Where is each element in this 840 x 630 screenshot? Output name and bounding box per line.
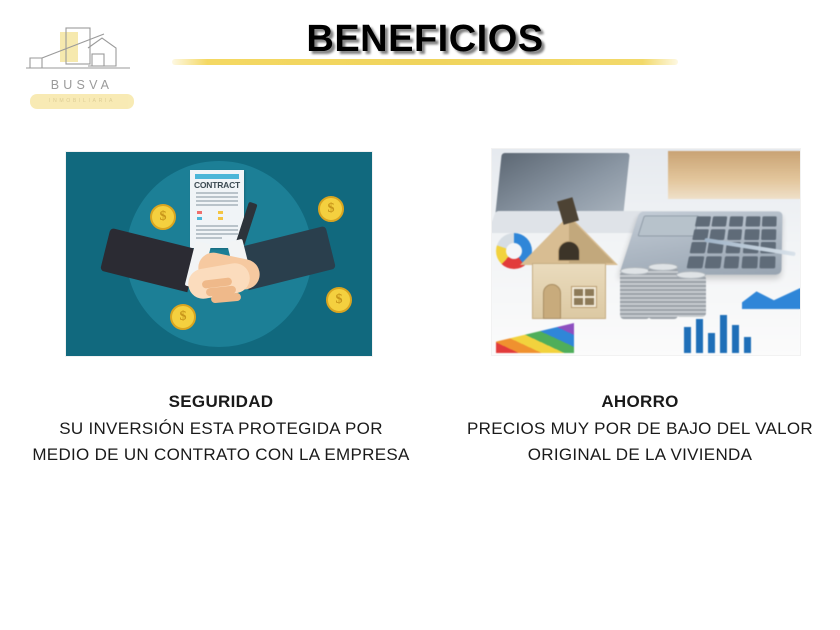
document-text-line [196, 229, 238, 231]
document-text-line [196, 225, 238, 227]
calculator-key [762, 216, 777, 226]
calculator-key [712, 216, 728, 226]
brand-wordmark: BUSVA [22, 78, 142, 92]
document-text-line [196, 237, 222, 239]
calculator-key [687, 256, 705, 268]
calculator-key [689, 242, 706, 254]
chart-bar [708, 333, 715, 353]
document-checkbox [218, 217, 223, 220]
calculator-key [723, 256, 740, 268]
contract-document-icon: CONTRACT [190, 170, 244, 248]
benefit-body: SU INVERSIÓN ESTA PROTEGIDA POR MEDIO DE… [30, 416, 412, 468]
calculator-key [695, 216, 711, 226]
dollar-coin-icon: $ [170, 304, 196, 330]
window-pane [585, 289, 594, 296]
title-underline [172, 59, 678, 65]
document-checkbox [197, 211, 202, 214]
calculator-icon [619, 211, 782, 274]
calculator-key [727, 229, 743, 240]
calculator-key [761, 229, 776, 240]
coin-stack [620, 271, 650, 319]
house-window [571, 286, 597, 308]
brand-tagline: INMOBILIARIA [30, 94, 134, 109]
benefit-image-seguridad: $ $ $ $ CONTRACT [66, 152, 372, 356]
house-attic-window [558, 241, 580, 261]
document-checkbox [218, 211, 223, 214]
window-pane [574, 298, 583, 305]
benefit-title: AHORRO [452, 389, 828, 415]
document-text-line [196, 204, 238, 206]
benefit-caption-ahorro: AHORRO PRECIOS MUY POR DE BAJO DEL VALOR… [452, 389, 828, 468]
document-title: CONTRACT [190, 180, 244, 190]
dollar-coin-icon: $ [150, 204, 176, 230]
chart-bar [684, 327, 691, 353]
benefit-body: PRECIOS MUY POR DE BAJO DEL VALOR ORIGIN… [452, 416, 828, 468]
document-text-line [196, 196, 238, 198]
slide-benefits: { "brand": { "name": "BUSVA", "tagline":… [0, 0, 840, 630]
coin-stack [648, 267, 678, 319]
chart-bar [744, 337, 751, 353]
wooden-desk-strip [668, 151, 800, 199]
benefit-image-ahorro [492, 149, 800, 355]
calculator-key [760, 256, 776, 268]
document-text-line [196, 200, 238, 202]
wooden-house-model [520, 215, 618, 319]
house-body [532, 263, 606, 319]
calculator-screen [637, 215, 699, 236]
document-text-line [196, 233, 238, 235]
benefit-caption-seguridad: SEGURIDAD SU INVERSIÓN ESTA PROTEGIDA PO… [30, 389, 412, 468]
calculator-key [745, 216, 760, 226]
buildings-outline-icon [22, 24, 142, 80]
chart-bar [720, 315, 727, 353]
brand-tagline-highlight: INMOBILIARIA [30, 94, 134, 109]
dollar-coin-icon: $ [326, 287, 352, 313]
calculator-key [705, 256, 722, 268]
calculator-key [744, 229, 759, 240]
chart-bar [696, 319, 703, 353]
calculator-key [728, 216, 743, 226]
document-checkbox [197, 217, 202, 220]
document-header-bar [195, 174, 239, 179]
window-pane [585, 298, 594, 305]
dollar-coin-icon: $ [318, 196, 344, 222]
chart-bar [732, 325, 739, 353]
calculator-key [741, 256, 757, 268]
document-text-line [196, 192, 238, 194]
benefit-title: SEGURIDAD [30, 389, 412, 415]
coin-stack [676, 275, 706, 317]
page-title: BENEFICIOS [170, 18, 680, 61]
window-pane [574, 289, 583, 296]
brand-logo[interactable]: BUSVA INMOBILIARIA [22, 24, 142, 110]
house-door [543, 284, 561, 319]
